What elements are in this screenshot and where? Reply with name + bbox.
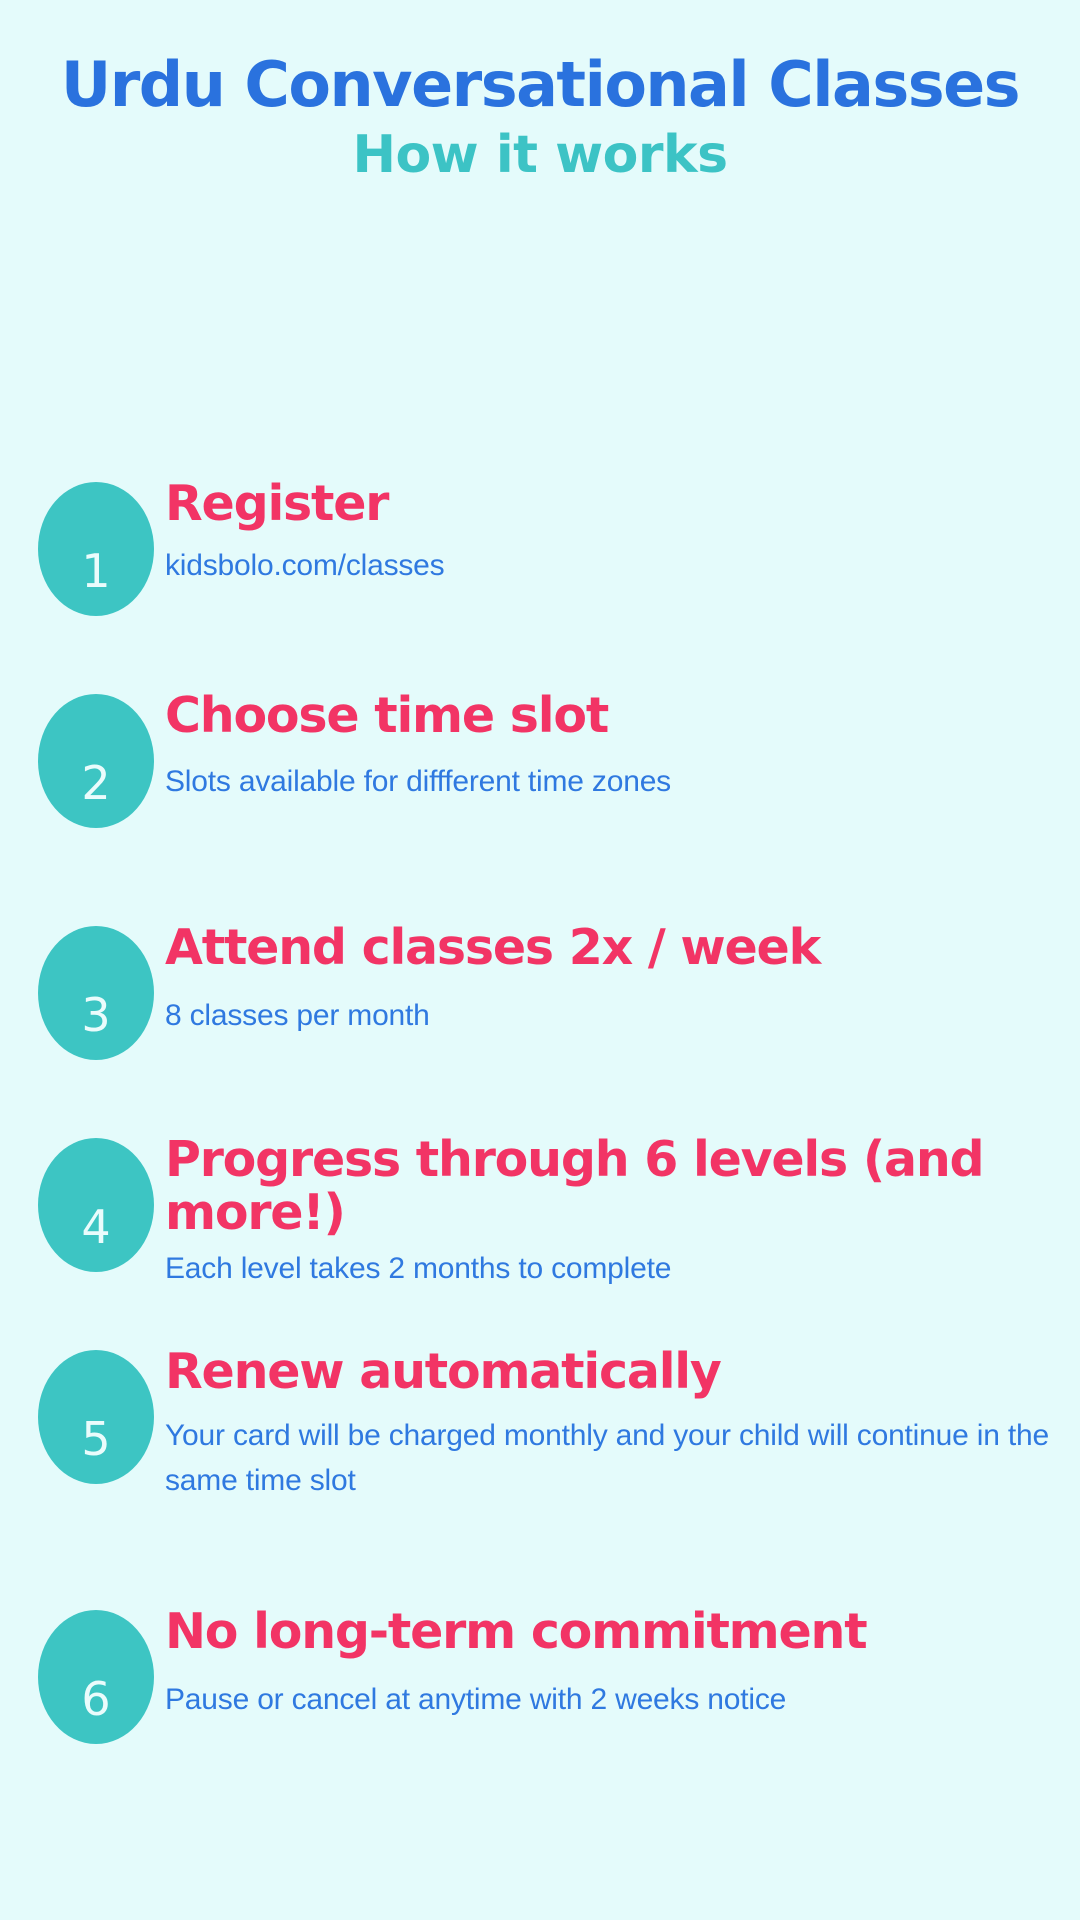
step-heading-4: Progress through 6 levels (and more!): [165, 1134, 1065, 1240]
step-number-badge-5: 5: [38, 1350, 154, 1484]
step-content-1: Register kidsbolo.com/classes: [165, 478, 1065, 588]
step-content-2: Choose time slot Slots available for dif…: [165, 690, 1065, 804]
step-description-2: Slots available for diffferent time zone…: [165, 759, 1065, 804]
step-description-5: Your card will be charged monthly and yo…: [165, 1413, 1065, 1503]
step-number-badge-6: 6: [38, 1610, 154, 1744]
step-content-3: Attend classes 2x / week 8 classes per m…: [165, 922, 1065, 1038]
page-header: Urdu Conversational Classes How it works: [0, 0, 1080, 184]
step-description-3: 8 classes per month: [165, 993, 1065, 1038]
step-number-4: 4: [38, 1204, 154, 1250]
page-title: Urdu Conversational Classes: [0, 0, 1080, 117]
step-number-2: 2: [38, 760, 154, 806]
step-number-badge-4: 4: [38, 1138, 154, 1272]
step-description-6: Pause or cancel at anytime with 2 weeks …: [165, 1677, 1065, 1722]
step-description-1: kidsbolo.com/classes: [165, 543, 1065, 588]
step-number-3: 3: [38, 992, 154, 1038]
step-number-1: 1: [38, 548, 154, 594]
step-content-6: No long-term commitment Pause or cancel …: [165, 1606, 1065, 1722]
step-heading-5: Renew automatically: [165, 1346, 1065, 1399]
step-number-badge-3: 3: [38, 926, 154, 1060]
step-heading-6: No long-term commitment: [165, 1606, 1065, 1659]
step-content-5: Renew automatically Your card will be ch…: [165, 1346, 1065, 1503]
step-number-badge-1: 1: [38, 482, 154, 616]
step-number-6: 6: [38, 1676, 154, 1722]
step-number-5: 5: [38, 1416, 154, 1462]
infographic-page: Urdu Conversational Classes How it works…: [0, 0, 1080, 1920]
step-number-badge-2: 2: [38, 694, 154, 828]
step-heading-2: Choose time slot: [165, 690, 1065, 743]
step-content-4: Progress through 6 levels (and more!) Ea…: [165, 1134, 1065, 1291]
page-subtitle: How it works: [0, 117, 1080, 184]
step-description-4: Each level takes 2 months to complete: [165, 1246, 1065, 1291]
step-heading-3: Attend classes 2x / week: [165, 922, 1065, 975]
step-heading-1: Register: [165, 478, 1065, 531]
